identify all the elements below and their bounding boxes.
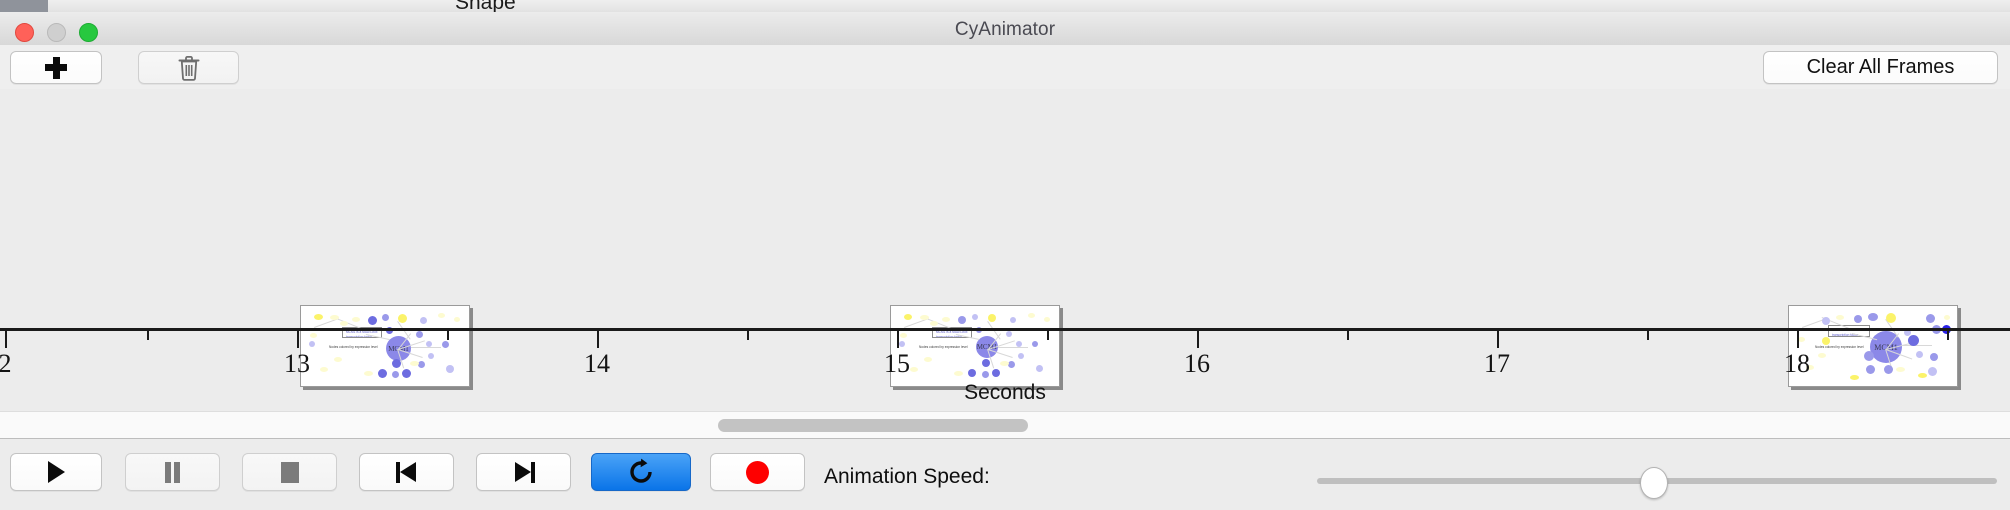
trash-icon [177, 55, 201, 81]
delete-frame-button[interactable] [138, 51, 239, 84]
axis-tick [5, 331, 7, 348]
clear-all-frames-label: Clear All Frames [1807, 56, 1955, 79]
axis-tick-minor [747, 331, 749, 340]
axis-tick [1197, 331, 1199, 348]
scrollbar-thumb[interactable] [718, 419, 1028, 432]
background-chip [238, 0, 369, 12]
play-button[interactable] [10, 453, 102, 491]
background-chip [1798, 0, 2010, 12]
record-icon [746, 461, 769, 484]
timeline-frame[interactable]: MCM1 MCM1 is a MADS-box transcription fa… [890, 305, 1060, 387]
axis-tick-minor [1047, 331, 1049, 340]
background-chip [48, 0, 239, 12]
cyanimator-window: Shape CyAnimator Clear All Frames [0, 0, 2010, 510]
axis-tick-label: 15 [884, 349, 910, 379]
timeline-scrollbar[interactable] [0, 411, 2010, 440]
skip-forward-icon [513, 462, 535, 483]
pause-icon [164, 462, 181, 483]
network-thumbnail: MCM1 MCM1 is a MADS-box transcription fa… [304, 309, 466, 383]
play-icon [48, 461, 65, 483]
skip-forward-button[interactable] [476, 453, 571, 491]
add-frame-button[interactable] [10, 51, 102, 84]
background-chip [1158, 0, 1799, 12]
axis-tick-label: 16 [1184, 349, 1210, 379]
axis-tick [597, 331, 599, 348]
axis-tick [1497, 331, 1499, 348]
axis-tick [1797, 331, 1799, 348]
pause-button[interactable] [125, 453, 220, 491]
timeline-frame[interactable]: MCM1 MCM1 is a MADS-box transcription fa… [300, 305, 470, 387]
skip-backward-icon [396, 462, 418, 483]
axis-tick [297, 331, 299, 348]
axis-tick-minor [147, 331, 149, 340]
animation-speed-slider-thumb[interactable] [1640, 467, 1668, 499]
background-chip [718, 0, 1159, 12]
background-chip [0, 0, 48, 12]
record-button[interactable] [710, 453, 805, 491]
axis-tick-label: 17 [1484, 349, 1510, 379]
axis-tick-minor [1347, 331, 1349, 340]
toolbar: Clear All Frames [0, 45, 2010, 90]
axis-title: Seconds [0, 381, 2010, 405]
window-title: CyAnimator [0, 19, 2010, 41]
stop-button[interactable] [242, 453, 337, 491]
network-thumbnail: MCM1 MCM1 is a MADS-box transcription fa… [894, 309, 1056, 383]
skip-backward-button[interactable] [359, 453, 454, 491]
network-thumbnail: MCM1 MCM1 is a MADS-box transcription fa… [1792, 309, 1954, 383]
loop-button[interactable] [591, 453, 691, 491]
axis-tick-label: 2 [0, 349, 12, 379]
timeline-axis [0, 328, 2010, 331]
title-bar[interactable]: CyAnimator [0, 12, 2010, 46]
clear-all-frames-button[interactable]: Clear All Frames [1763, 51, 1998, 84]
plus-icon [45, 57, 67, 79]
axis-tick-minor [1647, 331, 1649, 340]
background-chip [618, 0, 719, 12]
axis-tick-label: 13 [284, 349, 310, 379]
loop-icon [627, 458, 655, 486]
axis-tick-minor [447, 331, 449, 340]
axis-tick [897, 331, 899, 348]
timeline-panel[interactable]: MCM1 MCM1 is a MADS-box transcription fa… [0, 89, 2010, 411]
timeline-frame[interactable]: MCM1 MCM1 is a MADS-box transcription fa… [1788, 305, 1958, 387]
timeline-content: MCM1 MCM1 is a MADS-box transcription fa… [0, 89, 2010, 411]
transport-bar: Animation Speed: [0, 438, 2010, 510]
animation-speed-label: Animation Speed: [824, 465, 990, 489]
axis-tick-minor [1947, 331, 1949, 340]
axis-tick-label: 14 [584, 349, 610, 379]
stop-icon [281, 462, 299, 483]
axis-tick-label: 18 [1784, 349, 1810, 379]
